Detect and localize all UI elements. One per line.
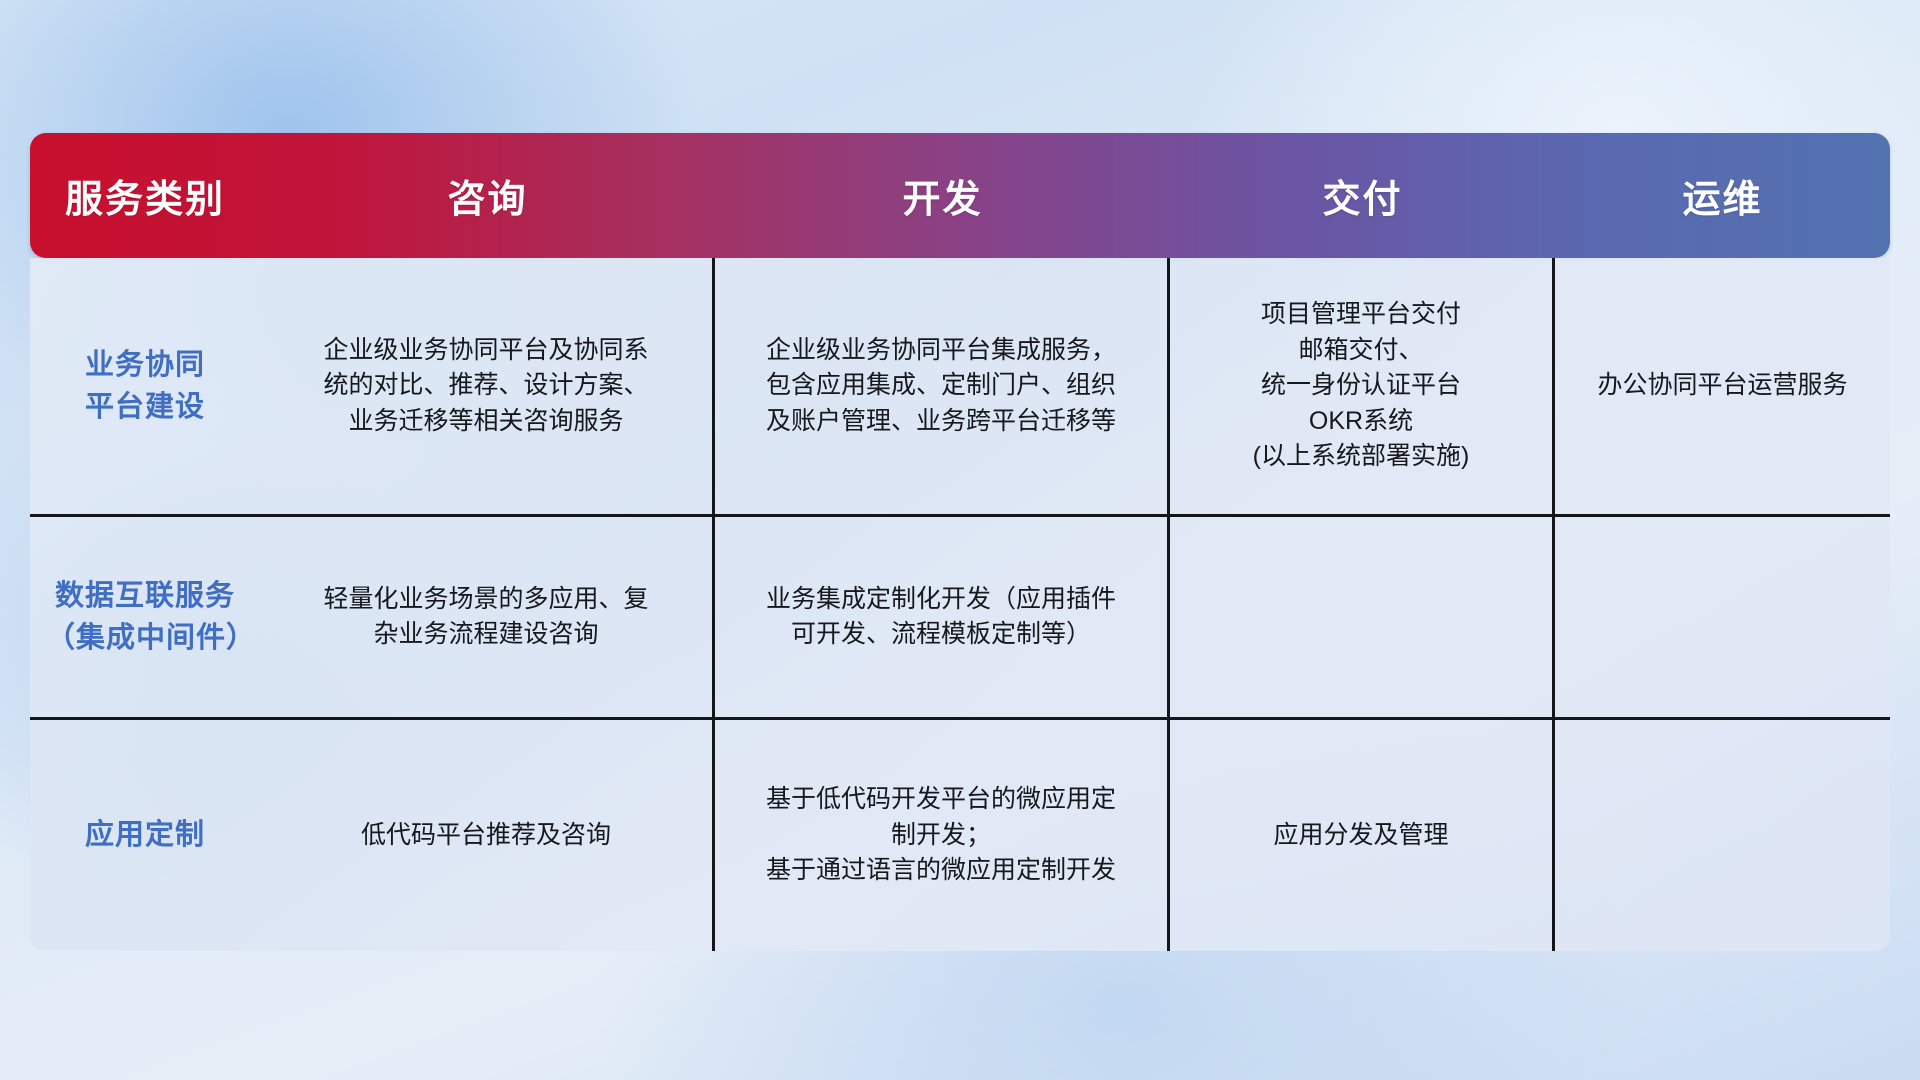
table-header-operations: 运维 (1555, 133, 1890, 258)
cell-development: 企业级业务协同平台集成服务， 包含应用集成、定制门户、组织 及账户管理、业务跨平… (715, 258, 1170, 514)
cell-consulting: 轻量化业务场景的多应用、复 杂业务流程建设咨询 (260, 517, 715, 717)
table-row: 应用定制 低代码平台推荐及咨询 基于低代码开发平台的微应用定 制开发； 基于通过… (30, 720, 1890, 951)
cell-consulting: 企业级业务协同平台及协同系 统的对比、推荐、设计方案、 业务迁移等相关咨询服务 (260, 258, 715, 514)
cell-operations (1555, 517, 1890, 717)
cell-consulting: 低代码平台推荐及咨询 (260, 720, 715, 951)
table-header-development: 开发 (715, 133, 1170, 258)
table-header-delivery: 交付 (1170, 133, 1555, 258)
table-row: 业务协同 平台建设 企业级业务协同平台及协同系 统的对比、推荐、设计方案、 业务… (30, 258, 1890, 517)
table-body: 业务协同 平台建设 企业级业务协同平台及协同系 统的对比、推荐、设计方案、 业务… (30, 258, 1890, 951)
cell-delivery (1170, 517, 1555, 717)
cell-operations: 办公协同平台运营服务 (1555, 258, 1890, 514)
table-header-row: 服务类别 咨询 开发 交付 运维 (30, 133, 1890, 258)
table-header-consulting: 咨询 (260, 133, 715, 258)
row-category-label: 应用定制 (30, 720, 260, 951)
row-category-label: 业务协同 平台建设 (30, 258, 260, 514)
cell-delivery: 应用分发及管理 (1170, 720, 1555, 951)
table-header-category: 服务类别 (30, 133, 260, 258)
table-row: 数据互联服务 （集成中间件） 轻量化业务场景的多应用、复 杂业务流程建设咨询 业… (30, 517, 1890, 720)
cell-development: 业务集成定制化开发（应用插件 可开发、流程模板定制等） (715, 517, 1170, 717)
service-matrix-table: 服务类别 咨询 开发 交付 运维 业务协同 平台建设 企业级业务协同平台及协同系… (30, 133, 1890, 951)
cell-development: 基于低代码开发平台的微应用定 制开发； 基于通过语言的微应用定制开发 (715, 720, 1170, 951)
row-category-label: 数据互联服务 （集成中间件） (30, 517, 260, 717)
cell-delivery: 项目管理平台交付 邮箱交付、 统一身份认证平台 OKR系统 (以上系统部署实施) (1170, 258, 1555, 514)
cell-operations (1555, 720, 1890, 951)
